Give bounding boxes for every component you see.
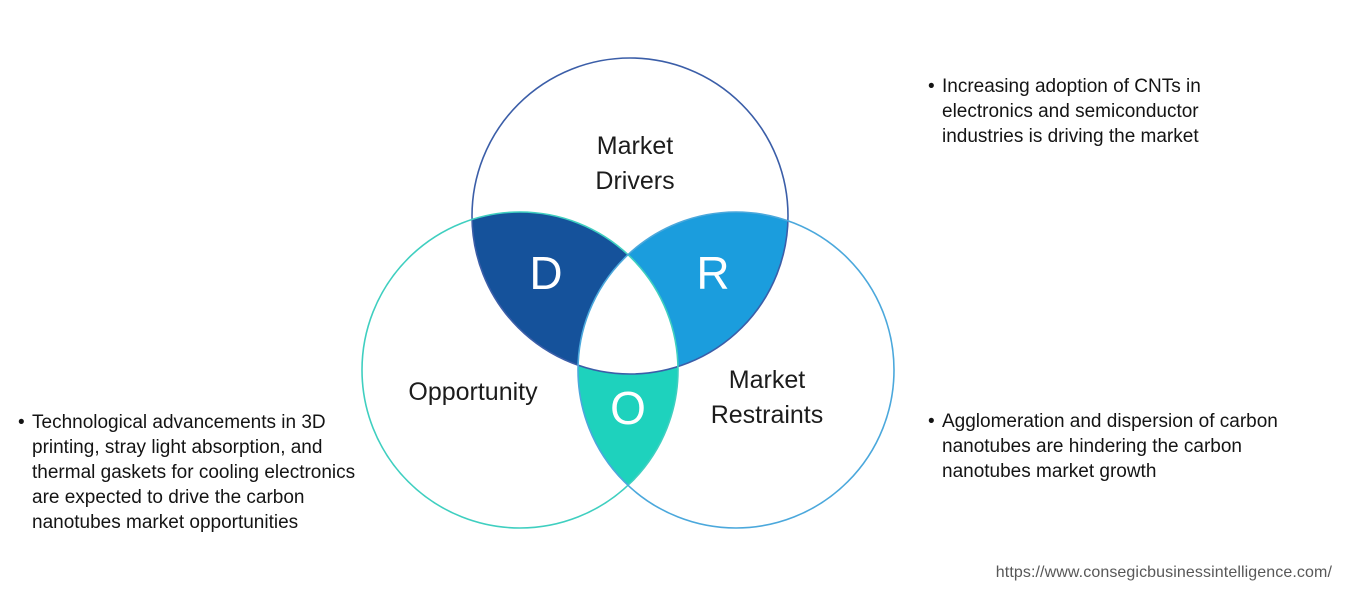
note-opportunity-text: Technological advancements in 3D printin… [32,410,374,535]
bullet-icon: • [18,410,32,435]
venn-diagram: D R O Market Drivers Opportunity Market … [340,40,920,560]
lens-letter-o: O [610,382,646,434]
label-market-restraints-line2: Restraints [711,401,824,429]
lens-letter-d: D [529,247,562,299]
label-opportunity: Opportunity [408,378,538,406]
bullet-icon: • [928,74,942,99]
label-market-drivers-line2: Drivers [595,167,674,195]
lens-letter-r: R [696,247,729,299]
note-market-restraints-text: Agglomeration and dispersion of carbon n… [942,409,1318,484]
note-opportunity: • Technological advancements in 3D print… [18,410,374,535]
label-market-drivers-line1: Market [597,132,673,160]
source-url[interactable]: https://www.consegicbusinessintelligence… [996,564,1332,582]
lens-o-region [290,0,990,600]
note-market-drivers-text: Increasing adoption of CNTs in electroni… [942,74,1278,149]
venn-diagram-svg: D R O Market Drivers Opportunity Market … [340,40,920,560]
note-market-drivers: • Increasing adoption of CNTs in electro… [928,74,1278,149]
label-market-restraints-line1: Market [729,366,805,394]
bullet-icon: • [928,409,942,434]
note-market-restraints: • Agglomeration and dispersion of carbon… [928,409,1318,484]
